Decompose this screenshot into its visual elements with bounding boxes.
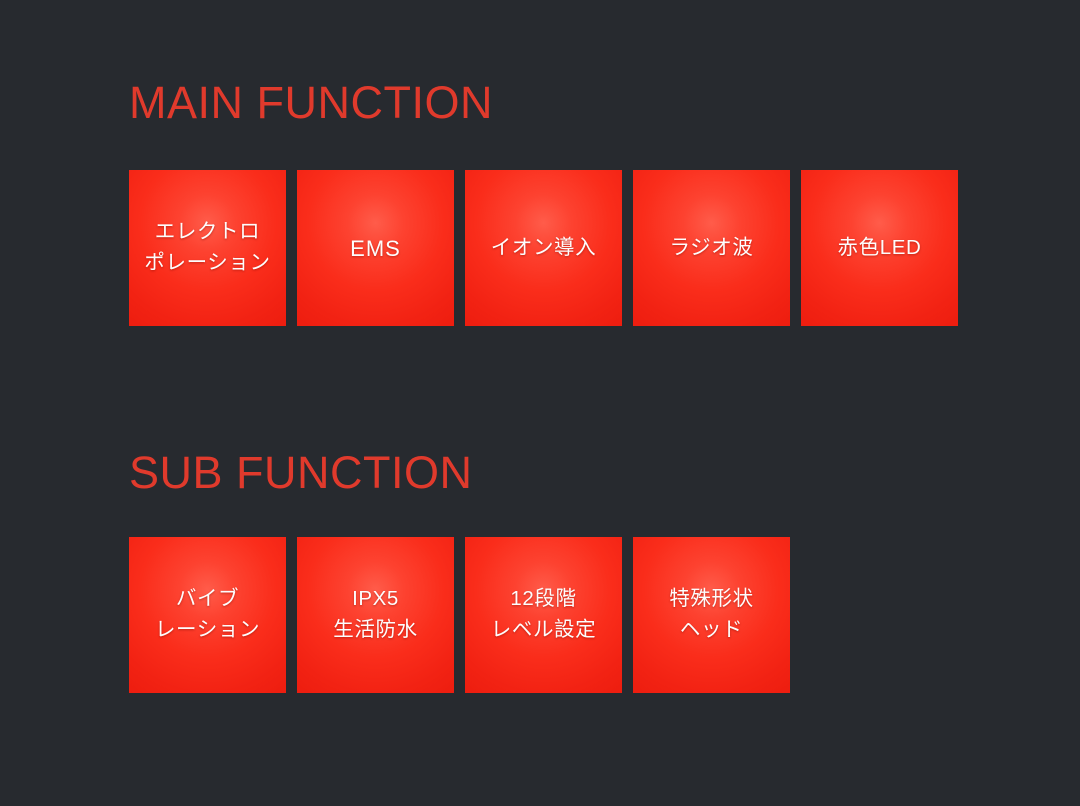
- sub-function-heading: SUB FUNCTION: [129, 450, 473, 495]
- feature-tile[interactable]: バイブ レーション: [129, 537, 286, 693]
- feature-tile-label: EMS: [346, 232, 405, 265]
- feature-tile[interactable]: 赤色LED: [801, 170, 958, 326]
- feature-tile-label: 赤色LED: [834, 233, 926, 264]
- feature-tile-label: イオン導入: [487, 233, 601, 264]
- feature-tile[interactable]: イオン導入: [465, 170, 622, 326]
- feature-tile[interactable]: IPX5 生活防水: [297, 537, 454, 693]
- feature-tile-label: バイブ レーション: [151, 584, 264, 646]
- main-function-heading: MAIN FUNCTION: [129, 80, 493, 125]
- feature-tile-label: IPX5 生活防水: [329, 584, 421, 646]
- feature-tile[interactable]: ラジオ波: [633, 170, 790, 326]
- feature-tile-label: エレクトロ ポレーション: [140, 217, 274, 279]
- sub-function-tile-row: バイブ レーション IPX5 生活防水 12段階 レベル設定 特殊形状 ヘッド: [129, 537, 790, 693]
- feature-tile-label: ラジオ波: [666, 233, 758, 264]
- feature-grid-page: MAIN FUNCTION エレクトロ ポレーション EMS イオン導入 ラジオ…: [0, 0, 1080, 806]
- feature-tile[interactable]: EMS: [297, 170, 454, 326]
- feature-tile-label: 特殊形状 ヘッド: [665, 584, 757, 646]
- feature-tile[interactable]: 12段階 レベル設定: [465, 537, 622, 693]
- feature-tile-label: 12段階 レベル設定: [487, 584, 601, 646]
- feature-tile[interactable]: 特殊形状 ヘッド: [633, 537, 790, 693]
- feature-tile[interactable]: エレクトロ ポレーション: [129, 170, 286, 326]
- main-function-tile-row: エレクトロ ポレーション EMS イオン導入 ラジオ波 赤色LED: [129, 170, 958, 326]
